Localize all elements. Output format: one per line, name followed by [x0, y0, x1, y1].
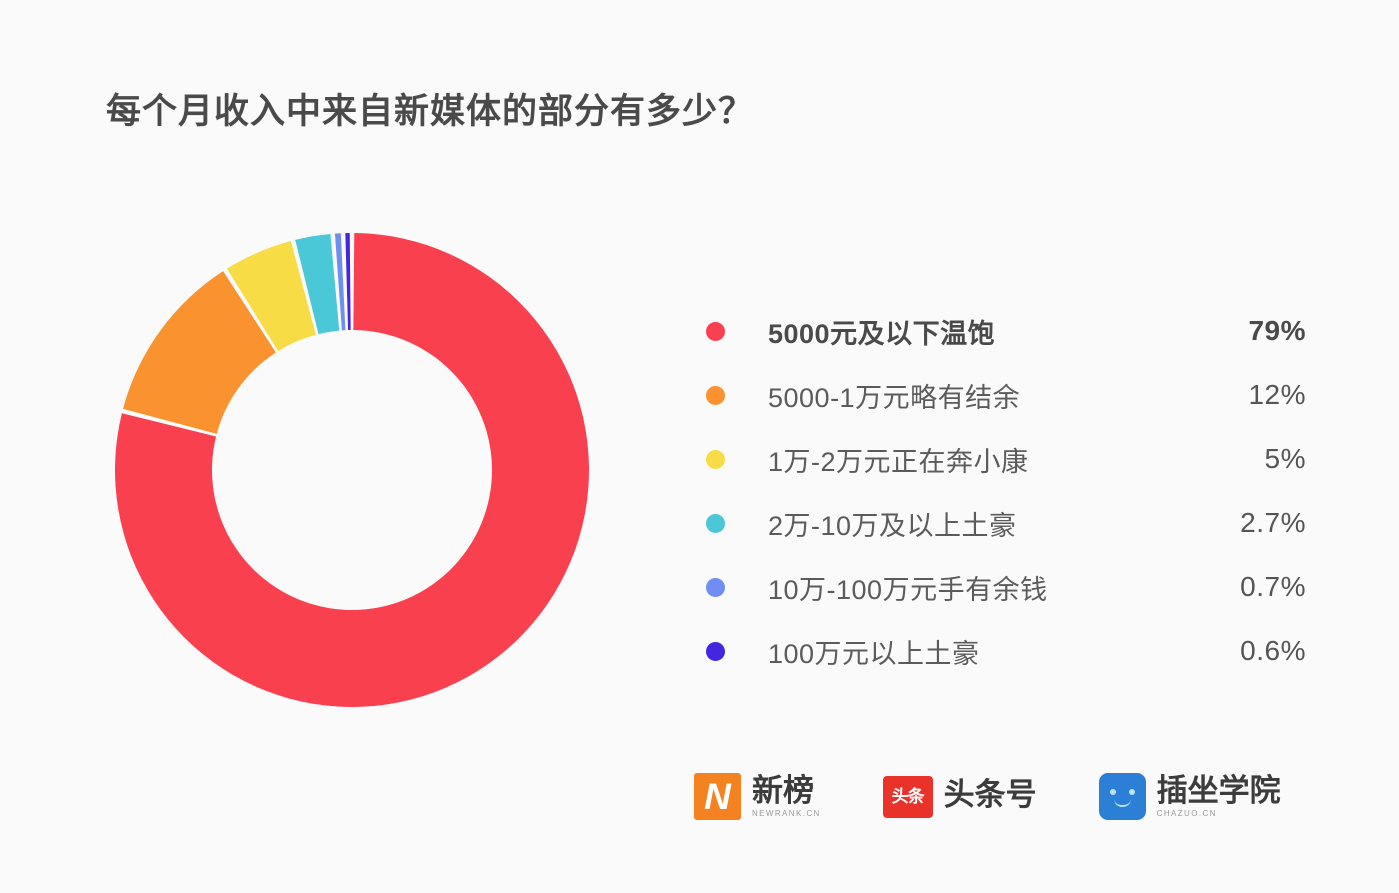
legend-item-label: 1万-2万元正在奔小康: [768, 440, 1188, 479]
legend-item-value: 12%: [1188, 379, 1306, 411]
legend-item-value: 5%: [1188, 443, 1306, 475]
legend-color-swatch-icon: [706, 386, 725, 405]
chazuo-logo-text: 插坐学院 CHAZUO.CN: [1157, 775, 1281, 819]
chazuo-logo-icon: [1099, 773, 1146, 820]
logo-name-cn: 插坐学院: [1157, 775, 1281, 808]
logo-name-en: NEWRANK.CN: [752, 809, 821, 818]
legend-item-value: 0.7%: [1188, 571, 1306, 603]
logo-name-en: CHAZUO.CN: [1157, 809, 1281, 818]
toutiaohao-logo-text: 头条号: [944, 779, 1037, 814]
legend-color-swatch-icon: [706, 578, 725, 597]
legend-item[interactable]: 10万-100万元手有余钱 0.7%: [706, 555, 1306, 619]
legend-item-label: 5000-1万元略有结余: [768, 376, 1188, 415]
legend-item-value: 2.7%: [1188, 507, 1306, 539]
logo-chazuo[interactable]: 插坐学院 CHAZUO.CN: [1099, 773, 1281, 820]
legend-item-value: 0.6%: [1188, 635, 1306, 667]
logo-toutiaohao[interactable]: 头条 头条号: [883, 776, 1037, 818]
legend-item-label: 2万-10万及以上土豪: [768, 504, 1188, 543]
legend-item[interactable]: 2万-10万及以上土豪 2.7%: [706, 491, 1306, 555]
newrank-logo-icon: N: [694, 773, 741, 820]
logo-newrank[interactable]: N 新榜 NEWRANK.CN: [694, 773, 821, 820]
legend-color-swatch-icon: [706, 642, 725, 661]
chazuo-eye-right-icon: [1129, 789, 1135, 795]
newrank-logo-text: 新榜 NEWRANK.CN: [752, 775, 821, 819]
donut-slice[interactable]: [345, 233, 350, 330]
chazuo-eye-left-icon: [1110, 789, 1116, 795]
logo-name-cn: 新榜: [752, 775, 821, 808]
legend-item[interactable]: 5000-1万元略有结余 12%: [706, 363, 1306, 427]
partner-logo-bar: N 新榜 NEWRANK.CN 头条 头条号 插坐学院 CHAZUO.CN: [694, 773, 1281, 820]
chart-legend: 5000元及以下温饱 79% 5000-1万元略有结余 12% 1万-2万元正在…: [706, 299, 1306, 683]
logo-name-cn: 头条号: [944, 779, 1037, 812]
legend-item[interactable]: 1万-2万元正在奔小康 5%: [706, 427, 1306, 491]
toutiao-logo-icon: 头条: [883, 776, 933, 818]
legend-color-swatch-icon: [706, 450, 725, 469]
newrank-mark-letter: N: [694, 773, 741, 820]
legend-item-label: 10万-100万元手有余钱: [768, 568, 1188, 607]
legend-item-label: 5000元及以下温饱: [768, 312, 1188, 351]
page-title: 每个月收入中来自新媒体的部分有多少？: [106, 83, 754, 134]
donut-slice-group: [115, 233, 589, 707]
legend-item[interactable]: 100万元以上土豪 0.6%: [706, 619, 1306, 683]
chazuo-mouth-icon: [1114, 799, 1131, 807]
legend-item-label: 100万元以上土豪: [768, 632, 1188, 671]
donut-chart-svg: [113, 231, 591, 709]
legend-item[interactable]: 5000元及以下温饱 79%: [706, 299, 1306, 363]
legend-color-swatch-icon: [706, 322, 725, 341]
legend-color-swatch-icon: [706, 514, 725, 533]
donut-chart: [113, 231, 591, 709]
legend-item-value: 79%: [1188, 315, 1306, 347]
